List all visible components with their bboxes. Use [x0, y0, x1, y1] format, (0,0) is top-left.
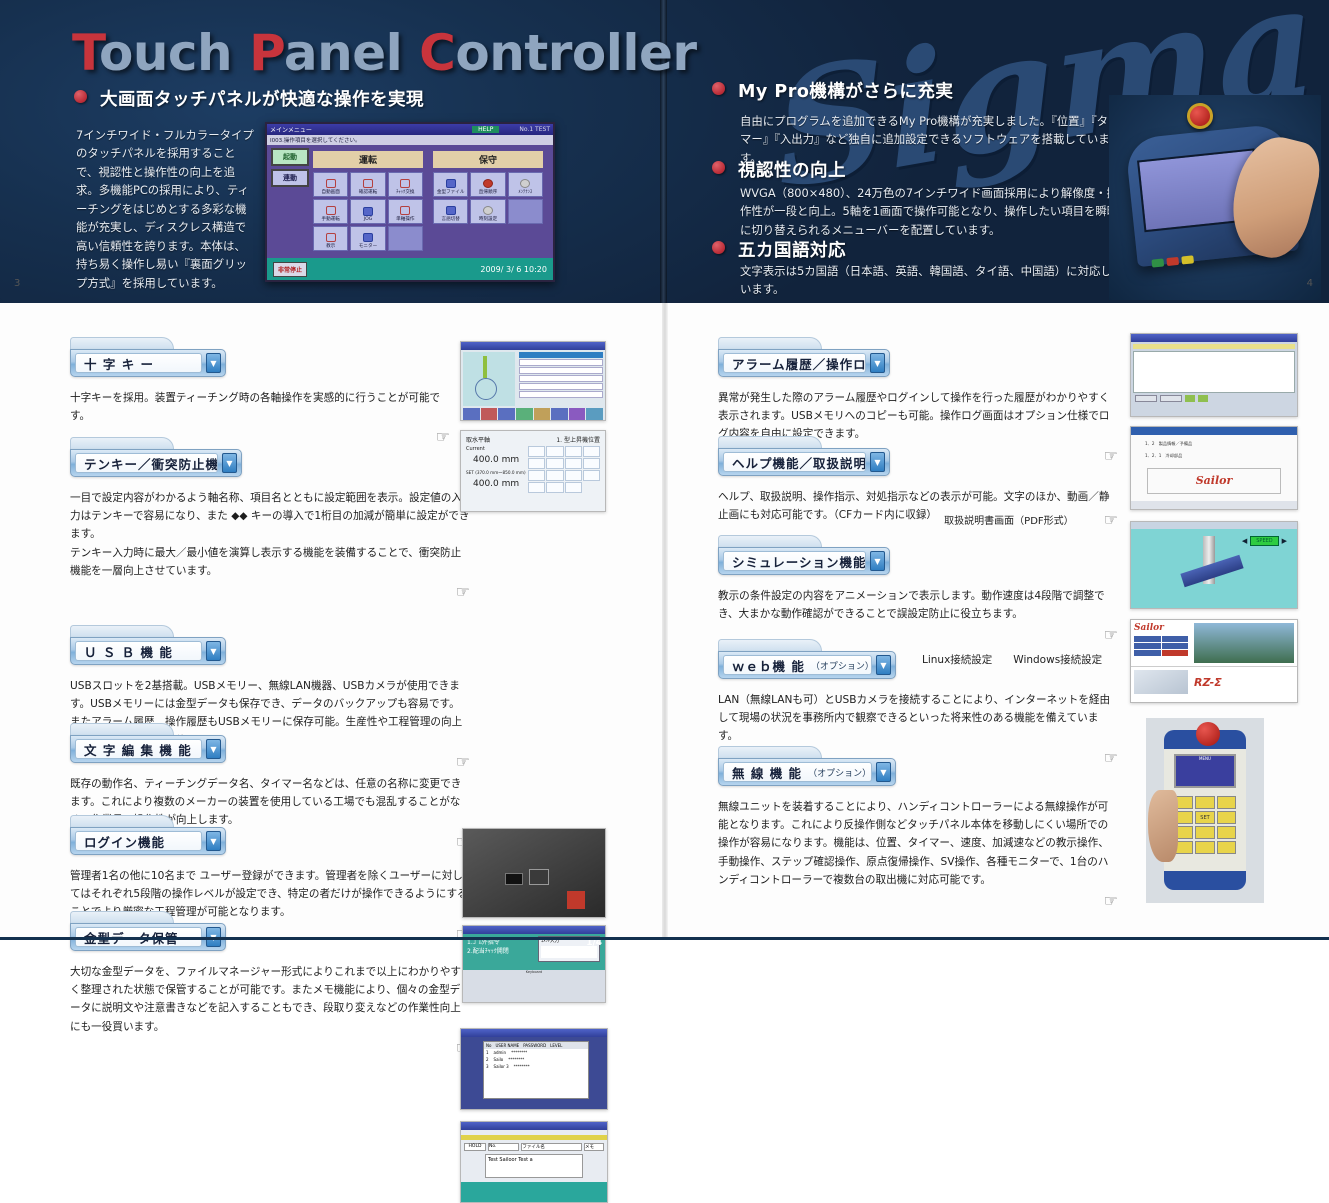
tp-col-header-operation: 運転: [313, 151, 423, 168]
pdf-heading-2: 1．2．1 冷却部品: [1145, 453, 1283, 459]
key-down: [1195, 826, 1214, 839]
hero-photo: [1194, 623, 1294, 663]
key: [528, 470, 545, 481]
tab-body[interactable]: 十 字 キ ー ▼: [70, 349, 226, 377]
hero-right-body-3: 文字表示は5カ国語（日本語、英語、韓国語、タイ語、中国語）に対応しています。: [740, 262, 1125, 299]
key: [1217, 796, 1236, 809]
key: [528, 458, 545, 469]
hc-key-green[interactable]: [1151, 258, 1164, 267]
keyboard-label: Keyboard: [463, 970, 605, 974]
tp-window-title: メインメニュー: [270, 125, 312, 134]
tp-message-bar: I003.操作項目を選択してください。: [267, 135, 553, 145]
bullet-dot-icon: [74, 90, 87, 103]
feature-mold-data: 金型データ保管 ▼ 大切な金型データを、ファイルマネージャー形式によりこれまで以…: [70, 911, 470, 1057]
thumb-titlebar: [461, 342, 605, 350]
thumbnail-login-list-screen: No USER NAME PASSWORD LEVEL 1 admin ****…: [460, 1028, 608, 1110]
user-list-window: No USER NAME PASSWORD LEVEL 1 admin ****…: [483, 1041, 589, 1099]
tab-body[interactable]: シミュレーション機能 ▼: [718, 547, 890, 575]
pointing-hand-icon: ☞: [718, 891, 1118, 910]
feature-tab[interactable]: テンキー／衝突防止機能 ▼: [70, 437, 242, 477]
page-title: Touch Panel Controller: [72, 24, 697, 82]
key-up: [1195, 796, 1214, 809]
chuck-change-icon: [400, 179, 410, 188]
hc-emergency-stop-icon[interactable]: [1186, 102, 1215, 131]
feature-tab[interactable]: 無 線 機 能（オプション） ▼: [718, 746, 896, 786]
tp-grid-maintenance: 金型ファイル 直帰順序 ﾒﾝﾃﾅﾝｽ 言語切替 時刻設定: [433, 172, 543, 224]
tab-label: アラーム履歴／操作ログ: [723, 353, 866, 373]
feature-tab[interactable]: 金型データ保管 ▼: [70, 911, 226, 951]
feature-body-text: 十字キーを採用。装置ティーチング時の各軸操作を実感的に行うことが可能です。: [70, 389, 450, 425]
key: [528, 482, 545, 493]
hc-key-red[interactable]: [1166, 257, 1179, 266]
thumb-titlebar: [463, 926, 605, 934]
tab-folder-top: [718, 535, 822, 547]
pointing-hand-icon: ☞: [1104, 510, 1118, 529]
hero-banner: Sigma Touch Panel Controller 大画面タッチパネルが快…: [0, 0, 1329, 303]
pointing-hand-icon: ☞: [70, 1038, 470, 1057]
hand-illustration: [1148, 790, 1178, 862]
bullet-dot-icon: [712, 241, 725, 254]
col-no: No.: [488, 1143, 519, 1151]
tenkey-keypad[interactable]: [528, 446, 600, 493]
bullet-dot-icon: [712, 161, 725, 174]
bullet-dot-icon: [712, 82, 725, 95]
tp-cell[interactable]: 金型ファイル: [433, 172, 468, 197]
tp-column-maintenance: 保守 金型ファイル 直帰順序 ﾒﾝﾃﾅﾝｽ 言語切替 時刻設定: [433, 151, 543, 251]
tab-option-label: （オプション）: [808, 766, 871, 779]
tp-cell[interactable]: モニター: [350, 226, 385, 251]
handy-controller-photo: SAILOR: [1109, 95, 1321, 300]
chevron-down-icon[interactable]: ▼: [222, 453, 237, 473]
key: [1195, 841, 1214, 854]
tab-folder-top: [718, 436, 822, 448]
cancel-icon: [483, 179, 493, 188]
tab-label: 十 字 キ ー: [75, 353, 202, 373]
list-item[interactable]: 1 admin ********: [484, 1049, 588, 1056]
speed-label: SPEED: [1250, 536, 1278, 546]
feature-tab[interactable]: 文 字 編 集 機 能 ▼: [70, 723, 226, 763]
red-button: [567, 891, 585, 909]
tab-folder-top: [70, 625, 174, 637]
speed-control[interactable]: ◀ SPEED ▶: [1242, 536, 1287, 546]
list-header: No USER NAME PASSWORD LEVEL: [484, 1042, 588, 1049]
tab-option-label: （オプション）: [811, 659, 872, 672]
tp-cell-empty: [508, 199, 543, 224]
tab-body[interactable]: テンキー／衝突防止機能 ▼: [70, 449, 242, 477]
tab-label: 文 字 編 集 機 能: [75, 739, 202, 759]
tab-body[interactable]: ｗｅｂ機 能（オプション） ▼: [718, 651, 896, 679]
thumbnail-handy-controller-photo: MENU SET: [1146, 718, 1264, 903]
tp-cell[interactable]: 自動画面: [313, 172, 348, 197]
col-file: ファイル名: [521, 1143, 582, 1151]
tenkey-set-value: 400.0 mm: [473, 479, 528, 489]
sailor-logo: Sailor: [1196, 474, 1233, 487]
feature-body-text: 一目で設定内容がわかるよう軸名称、項目名とともに設定範囲を表示。設定値の入力はテ…: [70, 489, 470, 580]
list-item[interactable]: 3 Sailor 3 ********: [484, 1063, 588, 1070]
chevron-down-icon[interactable]: ▼: [876, 655, 891, 675]
hero-right-heading-1: My Pro機構がさらに充実: [712, 78, 953, 103]
key-enter: [583, 470, 600, 481]
tab-folder-top: [70, 723, 174, 735]
hc2-keypad[interactable]: SET: [1174, 796, 1236, 854]
tp-side-buttons: 起動 連動: [271, 148, 309, 190]
tp-cell[interactable]: ﾒﾝﾃﾅﾝｽ: [508, 172, 543, 197]
chevron-down-icon[interactable]: ▼: [206, 739, 221, 759]
key: [1217, 826, 1236, 839]
feature-body-text: LAN（無線LANも可）とUSBカメラを接続することにより、インターネットを経由…: [718, 691, 1118, 746]
thumbnail-tenkey-screen: 取水平軸 1. 型上昇機位置 Current 400.0 mm SET (370…: [460, 430, 606, 512]
page-number-right: 4: [1307, 278, 1313, 289]
tp-button-start[interactable]: 起動: [271, 148, 309, 166]
feature-cross-key: 十 字 キ ー ▼ 十字キーを採用。装置ティーチング時の各軸操作を実感的に行うこ…: [70, 337, 450, 446]
thumb-titlebar: [461, 1122, 607, 1130]
key: [1217, 841, 1236, 854]
tp-cell[interactable]: 教示: [313, 226, 348, 251]
col-memo: メモ: [584, 1143, 604, 1151]
key: [546, 470, 563, 481]
tab-body[interactable]: 文 字 編 集 機 能 ▼: [70, 735, 226, 763]
feature-tab[interactable]: シミュレーション機能 ▼: [718, 535, 890, 575]
pointing-hand-icon: ☞: [70, 582, 470, 601]
feature-wireless: 無 線 機 能（オプション） ▼ 無線ユニットを装着することにより、ハンディコン…: [718, 746, 1118, 910]
chevron-down-icon[interactable]: ▼: [206, 831, 221, 851]
usb-port-icon: [505, 873, 523, 885]
monitor-icon: [363, 233, 373, 242]
feature-tab[interactable]: 十 字 キ ー ▼: [70, 337, 226, 377]
tab-label: 無 線 機 能（オプション）: [723, 762, 872, 782]
product-photo: [1134, 670, 1188, 694]
jog-icon: [363, 207, 373, 216]
feature-body-text: 教示の条件設定の内容をアニメーションで表示します。動作速度は4段階で調整でき、大…: [718, 587, 1118, 623]
key: [565, 470, 582, 481]
manual-screen-caption: 取扱説明書画面（PDF形式）: [944, 512, 1073, 527]
tp-col-header-maintenance: 保守: [433, 151, 543, 168]
tp-status-bar: 非常停止 2009/ 3/ 6 10:20: [267, 258, 553, 280]
teach-icon: [326, 233, 336, 242]
key-set[interactable]: SET: [1195, 811, 1214, 824]
tab-body[interactable]: アラーム履歴／操作ログ ▼: [718, 349, 890, 377]
chevron-down-icon[interactable]: ▼: [870, 551, 885, 571]
web-side-note: Linux接続設定 Windows接続設定: [922, 652, 1102, 667]
single-axis-icon: [400, 206, 410, 215]
manual-run-icon: [326, 206, 336, 215]
tab-folder-top: [718, 746, 822, 758]
chevron-down-icon[interactable]: ▼: [876, 762, 891, 782]
tp-cell-empty: [388, 226, 423, 251]
chevron-down-icon[interactable]: ▼: [206, 353, 221, 373]
key: [565, 446, 582, 457]
feature-tab[interactable]: Ｕ Ｓ Ｂ 機 能 ▼: [70, 625, 226, 665]
check-run-icon: [363, 179, 373, 188]
thumb-titlebar: [1131, 334, 1297, 342]
tab-label: シミュレーション機能: [723, 551, 866, 571]
tp-cell[interactable]: 直帰順序: [470, 172, 505, 197]
tp-cell[interactable]: 言語切替: [433, 199, 468, 224]
tab-folder-top: [70, 437, 174, 449]
tp-help-button[interactable]: HELP: [472, 126, 499, 133]
key: [565, 458, 582, 469]
product-name: RZ-Σ: [1194, 676, 1222, 689]
key: [546, 482, 563, 493]
sailor-logo: Sailor: [1134, 623, 1188, 633]
chevron-down-icon[interactable]: ▼: [206, 641, 221, 661]
key: [583, 446, 600, 457]
tp-cell[interactable]: JOG: [350, 199, 385, 224]
tab-label: ログイン機能: [75, 831, 202, 851]
tab-folder-top: [718, 337, 822, 349]
lan-port-icon: [529, 869, 549, 885]
tp-grid-operation: 自動画面 確認運転 ﾁｬｯｸ交換 手動運転 JOG 単軸操作 教示 モニター: [313, 172, 423, 251]
emergency-stop-button[interactable]: 非常停止: [273, 262, 307, 277]
feature-tenkey: テンキー／衝突防止機能 ▼ 一目で設定内容がわかるよう軸名称、項目名とともに設定…: [70, 437, 470, 601]
tab-label: Ｕ Ｓ Ｂ 機 能: [75, 641, 202, 661]
tenkey-subtitle: 1. 型上昇機位置: [556, 435, 600, 444]
chevron-down-icon[interactable]: ▼: [870, 452, 885, 472]
chevron-down-icon[interactable]: ▼: [870, 353, 885, 373]
auto-screen-icon: [326, 179, 336, 188]
hero-left-heading: 大画面タッチパネルが快適な操作を実現: [74, 86, 424, 111]
key: [546, 446, 563, 457]
feature-tab[interactable]: ログイン機能 ▼: [70, 815, 226, 855]
tp-column-operation: 運転 自動画面 確認運転 ﾁｬｯｸ交換 手動運転 JOG 単軸操作 教示 モニタ…: [313, 151, 423, 251]
tab-label: テンキー／衝突防止機能: [75, 453, 218, 473]
thumbnail-alarm-log-screen: [1130, 333, 1298, 417]
tp-cell[interactable]: 手動運転: [313, 199, 348, 224]
tp-program-no: No.1 TEST: [519, 126, 550, 133]
feature-tab[interactable]: アラーム履歴／操作ログ ▼: [718, 337, 890, 377]
hc-keypad: [1151, 255, 1194, 267]
tenkey-current-label: Current: [466, 446, 528, 452]
thumb-titlebar: [1131, 522, 1297, 529]
tenkey-set-label: SET (370.0 mm～850.0 mm): [466, 470, 528, 476]
hold-button[interactable]: HOLD: [464, 1143, 486, 1151]
feature-spread: 十 字 キ ー ▼ 十字キーを採用。装置ティーチング時の各軸操作を実感的に行うこ…: [0, 303, 1329, 940]
feature-tab[interactable]: ヘルプ機能／取扱説明書 ▼: [718, 436, 890, 476]
list-item[interactable]: 2 Sailo ********: [484, 1056, 588, 1063]
tp-cell[interactable]: ﾁｬｯｸ交換: [388, 172, 423, 197]
hc2-menu-label: MENU: [1176, 756, 1234, 761]
key: [583, 458, 600, 469]
tp-button-link[interactable]: 連動: [271, 169, 309, 187]
thumbnail-web-browser-screen: Sailor RZ-Σ: [1130, 619, 1298, 703]
tp-titlebar: メインメニュー HELP No.1 TEST: [267, 124, 553, 135]
key: [528, 446, 545, 457]
tab-folder-top: [70, 911, 174, 923]
language-icon: [446, 206, 456, 215]
tenkey-axis-label: 取水平軸: [466, 435, 490, 444]
floppy-icon: [446, 179, 456, 188]
tab-label: ｗｅｂ機 能（オプション）: [723, 655, 872, 675]
tab-body[interactable]: ログイン機能 ▼: [70, 827, 226, 855]
key: [565, 482, 582, 493]
hc2-screen: MENU: [1174, 754, 1236, 788]
axis-diagram: [463, 352, 515, 406]
clock-icon: [483, 206, 493, 215]
tab-label: ヘルプ機能／取扱説明書: [723, 452, 866, 472]
feature-tab[interactable]: ｗｅｂ機 能（オプション） ▼: [718, 639, 896, 679]
hero-left-body: 7インチワイド・フルカラータイプのタッチパネルを採用することで、視認性と操作性の…: [76, 126, 256, 292]
hero-right-body-2: WVGA（800×480）、24万色の7インチワイド画面採用により解像度・操作性…: [740, 184, 1125, 239]
thumbnail-cross-key-screen: [460, 341, 606, 421]
thumb-titlebar: [1131, 427, 1297, 435]
hero-right-heading-3: 五カ国語対応: [712, 237, 846, 262]
tp-columns: 運転 自動画面 確認運転 ﾁｬｯｸ交換 手動運転 JOG 単軸操作 教示 モニタ…: [267, 145, 553, 251]
gear-icon: [520, 179, 530, 188]
tab-folder-top: [718, 639, 822, 651]
feature-body-text: 無線ユニットを装着することにより、ハンディコントローラーによる無線操作が可能とな…: [718, 798, 1118, 889]
tab-folder-top: [70, 815, 174, 827]
feature-help-manual: ヘルプ機能／取扱説明書 ▼ ヘルプ、取扱説明、操作指示、対処指示などの表示が可能…: [718, 436, 1118, 529]
feature-body-text: 大切な金型データを、ファイルマネージャー形式によりこれまで以上にわかりやすく整理…: [70, 963, 470, 1036]
tp-cell[interactable]: 時刻設定: [470, 199, 505, 224]
thumb-titlebar: [461, 1029, 607, 1037]
key-right: [1217, 811, 1236, 824]
thumbnail-usb-port-photo: [462, 828, 606, 918]
feature-simulation: シミュレーション機能 ▼ 教示の条件設定の内容をアニメーションで表示します。動作…: [718, 535, 1118, 644]
page-spine: [662, 303, 668, 940]
tab-folder-top: [70, 337, 174, 349]
tp-cell[interactable]: 単軸操作: [388, 199, 423, 224]
touch-panel-screenshot: メインメニュー HELP No.1 TEST I003.操作項目を選択してくださ…: [265, 122, 555, 282]
tab-body[interactable]: 無 線 機 能（オプション） ▼: [718, 758, 896, 786]
tab-body[interactable]: Ｕ Ｓ Ｂ 機 能 ▼: [70, 637, 226, 665]
memo-text: Test Sailoor Test a: [485, 1154, 583, 1178]
hc-key-yellow[interactable]: [1181, 255, 1194, 264]
tab-body[interactable]: ヘルプ機能／取扱説明書 ▼: [718, 448, 890, 476]
thumbnail-simulation-screen: ◀ SPEED ▶: [1130, 521, 1298, 609]
tp-datetime: 2009/ 3/ 6 10:20: [480, 265, 547, 274]
thumbnail-pdf-manual-screen: 1．2 製品情報／予備品 1．2．1 冷却部品 Sailor: [1130, 426, 1298, 510]
hc2-emergency-stop-icon[interactable]: [1196, 722, 1220, 746]
key: [546, 458, 563, 469]
hero-right-heading-2: 視認性の向上: [712, 157, 846, 182]
tenkey-current-value: 400.0 mm: [473, 455, 528, 465]
thumbnail-mold-data-screen: HOLD No. ファイル名 メモ Test Sailoor Test a: [460, 1121, 608, 1203]
onscreen-keyboard[interactable]: Keyboard: [463, 970, 605, 1002]
page-number-left: 3: [14, 278, 20, 289]
log-list-area: [1133, 351, 1295, 393]
tp-cell[interactable]: 確認運転: [350, 172, 385, 197]
